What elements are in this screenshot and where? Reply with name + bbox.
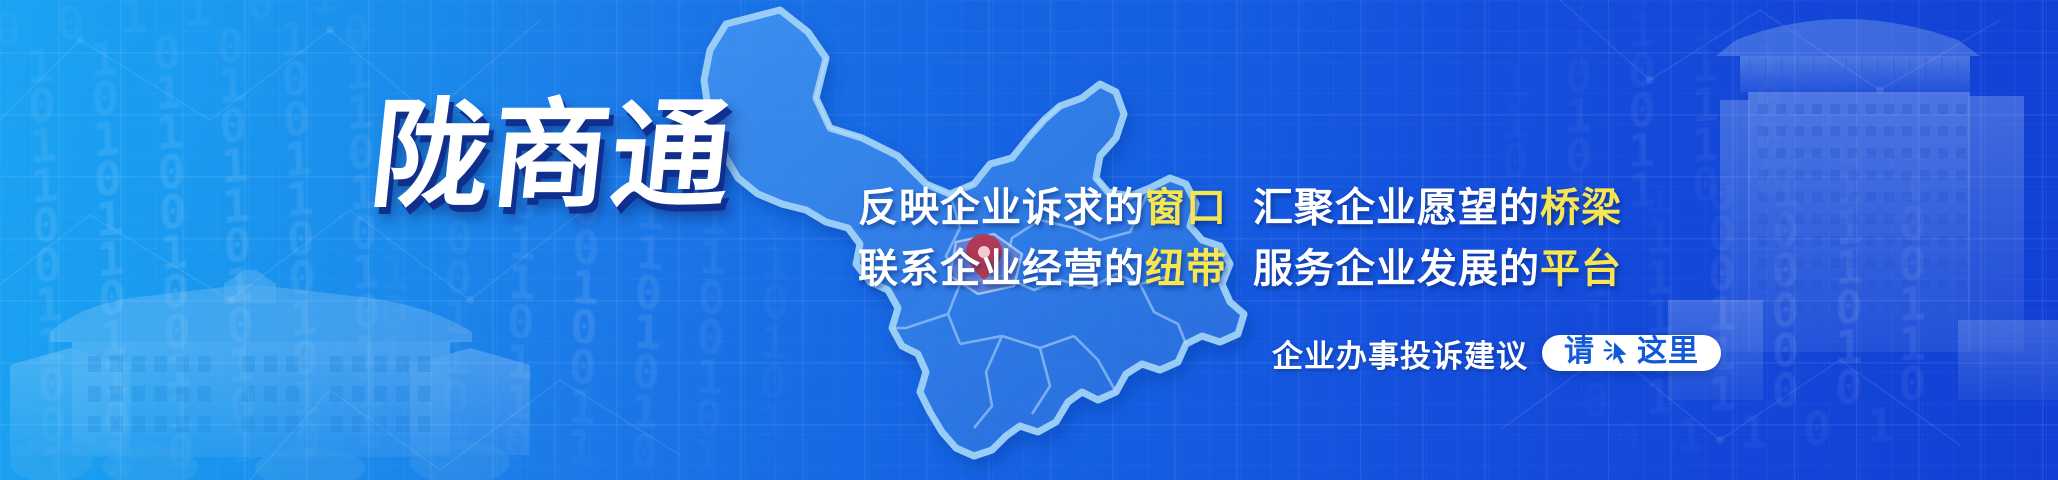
slogan-1-text-a: 反映企业诉求的 bbox=[858, 185, 1145, 231]
slogan-1-text-b: 汇聚企业愿望的 bbox=[1253, 185, 1540, 231]
cta-label: 企业办事投诉建议 bbox=[1272, 331, 1528, 376]
banner-root: 10 0 1 1 0 1 0 1 1 0 0 1 0 1 0 0 1 1 0 1… bbox=[0, 0, 2058, 480]
brand-title: 陇商通 bbox=[366, 96, 738, 214]
slogan-2-highlight-a: 纽带 bbox=[1145, 246, 1227, 292]
slogan-line-1: 反映企业诉求的窗口汇聚企业愿望的桥梁 bbox=[858, 186, 1622, 230]
click-cursor-icon bbox=[1602, 338, 1630, 366]
slogan-1-highlight-a: 窗口 bbox=[1145, 185, 1227, 231]
click-here-button[interactable]: 请 这里 bbox=[1542, 335, 1721, 371]
slogan-2-highlight-b: 平台 bbox=[1540, 246, 1622, 292]
cta-pill-prefix: 请 bbox=[1564, 339, 1595, 365]
slogan-2-text-a: 联系企业经营的 bbox=[858, 246, 1145, 292]
slogan-1-highlight-b: 桥梁 bbox=[1540, 185, 1622, 231]
cta-pill-suffix: 这里 bbox=[1637, 339, 1699, 365]
slogan-line-2: 联系企业经营的纽带服务企业发展的平台 bbox=[858, 247, 1622, 291]
call-to-action: 企业办事投诉建议 请 这里 bbox=[1272, 330, 1721, 376]
slogan-2-text-b: 服务企业发展的 bbox=[1253, 246, 1540, 292]
